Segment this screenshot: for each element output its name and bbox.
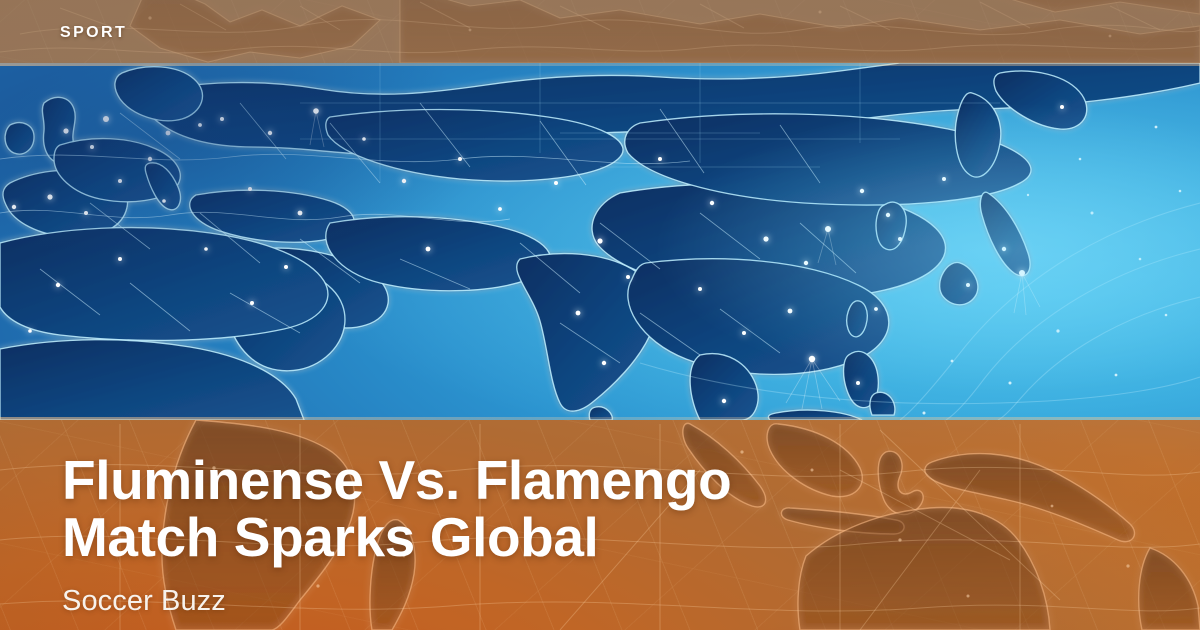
title-block: Fluminense Vs. Flamengo Match Sparks Glo… — [62, 452, 1102, 618]
page-title: Fluminense Vs. Flamengo Match Sparks Glo… — [62, 452, 1102, 566]
headline-line-1: Fluminense Vs. Flamengo — [62, 449, 731, 511]
category-label: SPORT — [60, 24, 127, 42]
page-subtitle: Soccer Buzz — [62, 584, 1102, 618]
social-share-card: SPORT Fluminense Vs. Flamengo Match Spar… — [0, 0, 1200, 630]
world-map-band — [0, 63, 1200, 420]
headline-line-2: Match Sparks Global — [62, 509, 1102, 566]
top-strip-tint — [0, 0, 1200, 63]
